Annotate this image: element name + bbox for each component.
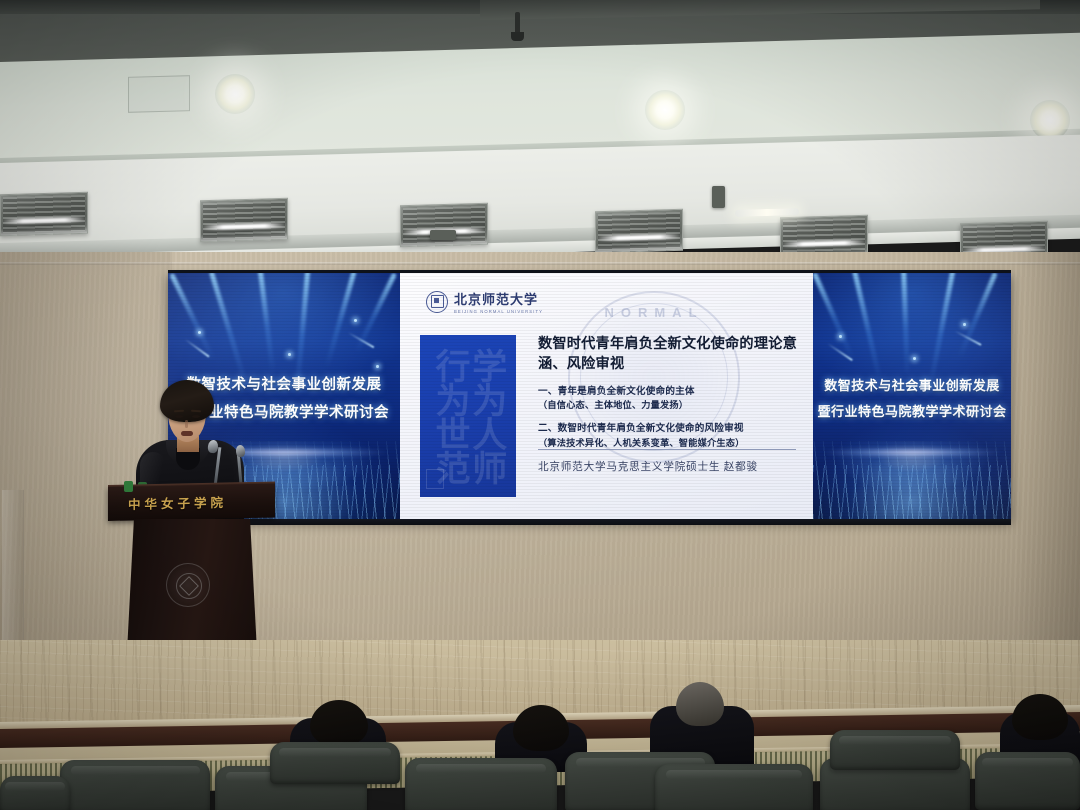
audience-seat [975,752,1080,810]
light-ray [957,273,998,358]
motto-column-2: 行为世范 [432,348,468,484]
bnu-logo-cn: 北京师范大学 [454,289,543,308]
audience-seat [60,760,210,810]
audience-seat [655,764,813,810]
motto-column-1: 学为人师 [469,348,505,484]
seal-top-text: NORMAL [570,305,738,320]
particle [288,353,291,356]
ceiling-speaker [430,230,456,240]
led-floor-lines-2 [813,465,1011,521]
led-banner-right: 数智技术与社会事业创新发展 暨行业特色马院教学学术研讨会 [813,273,1011,521]
audience-head [513,705,569,751]
ceiling-access-panel [128,75,190,113]
particle [376,365,379,368]
bnu-emblem-icon [426,291,448,313]
audience-head [676,682,724,726]
light-ray [209,273,248,385]
bullet-1-heading: 一、青年是肩负全新文化使命的主体 [538,385,806,399]
air-vent [200,198,288,242]
speaker-mouth [181,431,193,436]
air-vent [0,192,88,236]
bullet-1-sub: （自信心态、主体地位、力量发扬） [538,399,806,413]
bnu-logo: 北京师范大学 BEIJING NORMAL UNIVERSITY [426,289,543,314]
wall-door-edge [2,490,24,640]
ceiling-downlight [1030,100,1070,140]
audience-seat [405,758,557,810]
light-ray [258,273,276,373]
speaker-nose [185,420,188,428]
light-ray [928,273,956,388]
ceiling-speaker [712,186,725,208]
slide-author: 北京师范大学马克思主义学院硕士生 赵都骏 [538,459,808,474]
bnu-logo-en: BEIJING NORMAL UNIVERSITY [454,309,543,314]
audience-seat [270,742,400,784]
led-right-title-line2: 暨行业特色马院教学学术研讨会 [813,401,1011,420]
light-ray [354,273,397,354]
audience-head [1012,694,1068,740]
lecture-hall-photo: 数智技术与社会事业创新发展 暨行业特色马院教学学术研讨会 NORMAL 1902… [0,0,1080,810]
air-vent [595,209,683,253]
motto-stamp-icon [426,469,444,489]
ceiling-downlight [645,90,685,130]
motto-block: 学为人师 行为世范 [420,335,516,497]
light-ray [169,273,216,361]
audience-seat [830,730,960,770]
speaker-eye-right [192,415,200,418]
particle [354,319,357,322]
speaker-eye-left [175,415,183,418]
microphone-head-2 [235,445,245,458]
light-ray [852,273,883,384]
audience-head [310,700,368,746]
bnu-logo-names: 北京师范大学 BEIJING NORMAL UNIVERSITY [454,289,543,314]
slide-title: 数智时代青年肩负全新文化使命的理论意涵、风险审视 [538,335,800,374]
ceiling-hook-fixture [515,12,520,38]
slide-divider [538,449,796,450]
particle [963,323,966,326]
ceiling-downlight [215,74,255,114]
air-vent [400,203,488,247]
led-display-wall: 数智技术与社会事业创新发展 暨行业特色马院教学学术研讨会 NORMAL 1902… [168,273,1011,521]
particle [913,357,916,360]
light-ray [901,273,910,377]
light-ray [324,273,356,368]
bullet-2-heading: 二、数智时代青年肩负全新文化使命的风险审视 [538,422,806,436]
podium-emblem-icon [166,563,210,607]
audience-seat [0,776,70,810]
particle [839,335,842,338]
particle [198,331,201,334]
podium-venue-label: 中华女子学院 [128,491,254,513]
screen-frame-bottom [168,519,1011,525]
podium-indicator-light [124,481,133,492]
led-right-title-line1: 数智技术与社会事业创新发展 [813,375,1011,394]
presentation-slide: NORMAL 1902 北京师范大学 BEIJING NORMAL UNIVER… [400,273,813,521]
